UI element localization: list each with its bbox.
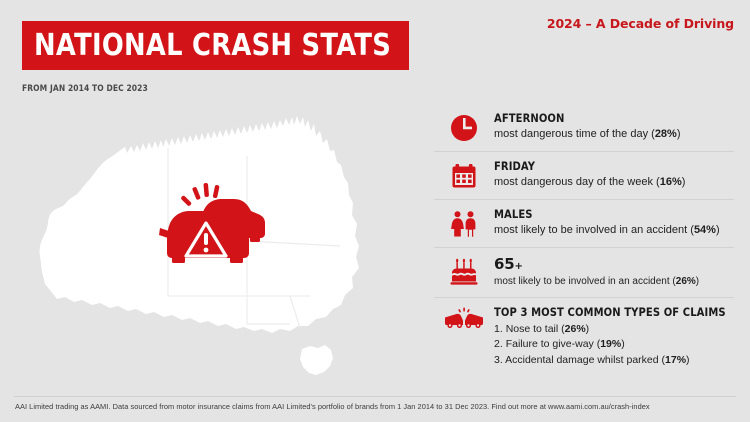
stat-body-age65: 65+ most likely to be involved in an acc… [494, 255, 734, 289]
stat-value-afternoon: 28% [655, 128, 677, 140]
female-figure-icon [451, 211, 464, 236]
footer-disclaimer: AAI Limited trading as AAMI. Data source… [15, 402, 737, 412]
claims-suffix: ) [686, 354, 690, 366]
claims-suffix: ) [621, 338, 625, 350]
stat-desc-prefix: most likely to be involved in an acciden… [494, 224, 694, 236]
stat-heading-age-number: 65 [494, 255, 514, 273]
stat-desc-suffix: ) [677, 128, 681, 140]
stat-row-friday: FRIDAY most dangerous day of the week (1… [434, 151, 734, 199]
stats-list: AFTERNOON most dangerous time of the day… [434, 104, 734, 376]
stat-value-friday: 16% [660, 176, 682, 188]
stat-desc-prefix: most dangerous time of the day ( [494, 128, 655, 140]
claims-value: 26% [565, 323, 586, 335]
date-range-subtitle: FROM JAN 2014 TO DEC 2023 [22, 84, 148, 94]
stat-desc-suffix: ) [696, 276, 699, 287]
two-car-crash-warning-icon [150, 178, 276, 274]
car-collision-icon [434, 305, 494, 335]
claims-item-3: 3. Accidental damage whilst parked (17%) [494, 353, 750, 368]
claims-value: 19% [600, 338, 621, 350]
decade-tag: 2024 – A Decade of Driving [547, 16, 734, 31]
title-banner: NATIONAL CRASH STATS [22, 21, 409, 70]
stat-row-males: MALES most likely to be involved in an a… [434, 199, 734, 247]
stat-heading-age65: 65+ [494, 256, 734, 273]
stat-value-males: 54% [694, 224, 716, 236]
claims-rank: 2. [494, 338, 506, 350]
calendar-icon [434, 159, 494, 191]
claims-item-1: 1. Nose to tail (26%) [494, 322, 750, 337]
stat-body-afternoon: AFTERNOON most dangerous time of the day… [494, 111, 734, 142]
stat-desc-friday: most dangerous day of the week (16%) [494, 175, 734, 190]
stat-desc-suffix: ) [716, 224, 720, 236]
clock-icon [434, 111, 494, 143]
claims-rank: 3. [494, 354, 505, 366]
claims-list: 1. Nose to tail (26%) 2. Failure to give… [494, 322, 750, 368]
claims-label: Nose to tail ( [506, 323, 565, 335]
claims-rank: 1. [494, 323, 506, 335]
stat-body-claims: TOP 3 MOST COMMON TYPES OF CLAIMS 1. Nos… [494, 305, 750, 368]
footer-divider [14, 396, 736, 397]
stat-desc-suffix: ) [682, 176, 686, 188]
stat-heading-afternoon: AFTERNOON [494, 112, 703, 125]
stat-heading-friday: FRIDAY [494, 160, 703, 173]
stat-desc-males: most likely to be involved in an acciden… [494, 223, 734, 238]
stat-row-age65: 65+ most likely to be involved in an acc… [434, 247, 734, 297]
stat-heading-males: MALES [494, 208, 703, 221]
stat-desc-afternoon: most dangerous time of the day (28%) [494, 127, 734, 142]
stat-heading-age-plus: + [514, 261, 522, 272]
claims-value: 17% [665, 354, 686, 366]
male-figure-icon [466, 211, 476, 237]
male-female-pair-icon [434, 207, 494, 239]
claims-label: Accidental damage whilst parked ( [505, 354, 665, 366]
birthday-cake-icon [434, 255, 494, 287]
stat-row-afternoon: AFTERNOON most dangerous time of the day… [434, 104, 734, 151]
claims-suffix: ) [586, 323, 590, 335]
stat-body-friday: FRIDAY most dangerous day of the week (1… [494, 159, 734, 190]
stat-value-age65: 26% [676, 276, 696, 287]
claims-label: Failure to give-way ( [506, 338, 601, 350]
stat-desc-prefix: most likely to be involved in an acciden… [494, 276, 676, 287]
stat-desc-prefix: most dangerous day of the week ( [494, 176, 660, 188]
claims-item-2: 2. Failure to give-way (19%) [494, 337, 750, 352]
page-title: NATIONAL CRASH STATS [22, 31, 391, 61]
stat-body-males: MALES most likely to be involved in an a… [494, 207, 734, 238]
stat-desc-age65: most likely to be involved in an acciden… [494, 275, 734, 289]
stat-row-claims: TOP 3 MOST COMMON TYPES OF CLAIMS 1. Nos… [434, 297, 734, 376]
claims-heading: TOP 3 MOST COMMON TYPES OF CLAIMS [494, 306, 726, 319]
infographic-page: NATIONAL CRASH STATS FROM JAN 2014 TO DE… [0, 0, 750, 422]
